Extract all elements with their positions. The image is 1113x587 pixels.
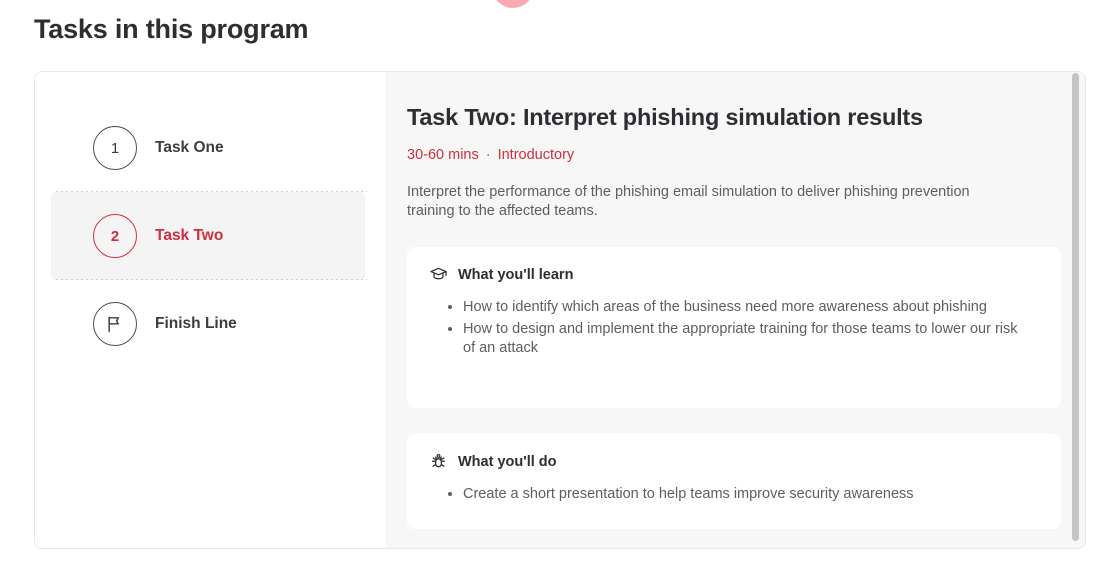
page-title: Tasks in this program [34, 14, 308, 45]
task-two-number-badge: 2 [93, 214, 137, 258]
sidebar-item-label: Task One [155, 139, 224, 157]
what-youll-do-card: What you'll do Create a short presentati… [407, 434, 1061, 529]
task-duration: 30-60 mins [407, 147, 479, 163]
pink-circle-decoration [492, 0, 534, 8]
graduation-cap-icon [429, 265, 448, 284]
sidebar-item-label: Task Two [155, 227, 223, 245]
what-youll-do-list: Create a short presentation to help team… [429, 485, 1039, 504]
scrollbar-thumb[interactable] [1072, 73, 1079, 541]
what-youll-learn-heading: What you'll learn [429, 265, 1039, 284]
sidebar-item-label: Finish Line [155, 315, 237, 333]
card-heading-text: What you'll learn [458, 267, 573, 283]
task-description: Interpret the performance of the phishin… [407, 183, 1007, 221]
sidebar-item-task-one[interactable]: 1 Task One [51, 104, 365, 192]
what-youll-learn-list: How to identify which areas of the busin… [429, 298, 1039, 358]
what-youll-learn-card: What you'll learn How to identify which … [407, 247, 1061, 408]
page-root: Tasks in this program 1 Task One 2 Task … [0, 0, 1113, 587]
meta-separator: · [486, 147, 491, 163]
bug-icon [429, 452, 448, 471]
card-heading-text: What you'll do [458, 454, 557, 470]
task-detail-pane: Task Two: Interpret phishing simulation … [385, 72, 1085, 548]
list-item: How to design and implement the appropri… [463, 320, 1023, 358]
what-youll-do-heading: What you'll do [429, 452, 1039, 471]
task-level: Introductory [498, 147, 575, 163]
task-meta: 30-60 mins·Introductory [407, 147, 1061, 163]
sidebar-item-finish-line[interactable]: Finish Line [51, 280, 365, 368]
list-item: How to identify which areas of the busin… [463, 298, 1023, 317]
flag-icon [105, 314, 125, 334]
vertical-scrollbar[interactable] [1071, 72, 1079, 548]
list-item: Create a short presentation to help team… [463, 485, 1023, 504]
task-one-number-badge: 1 [93, 126, 137, 170]
program-tasks-container: 1 Task One 2 Task Two Finish Line [34, 71, 1086, 549]
task-list-sidebar: 1 Task One 2 Task Two Finish Line [35, 72, 385, 548]
sidebar-item-task-two[interactable]: 2 Task Two [51, 192, 365, 280]
finish-line-badge [93, 302, 137, 346]
task-detail-title: Task Two: Interpret phishing simulation … [407, 104, 1061, 131]
